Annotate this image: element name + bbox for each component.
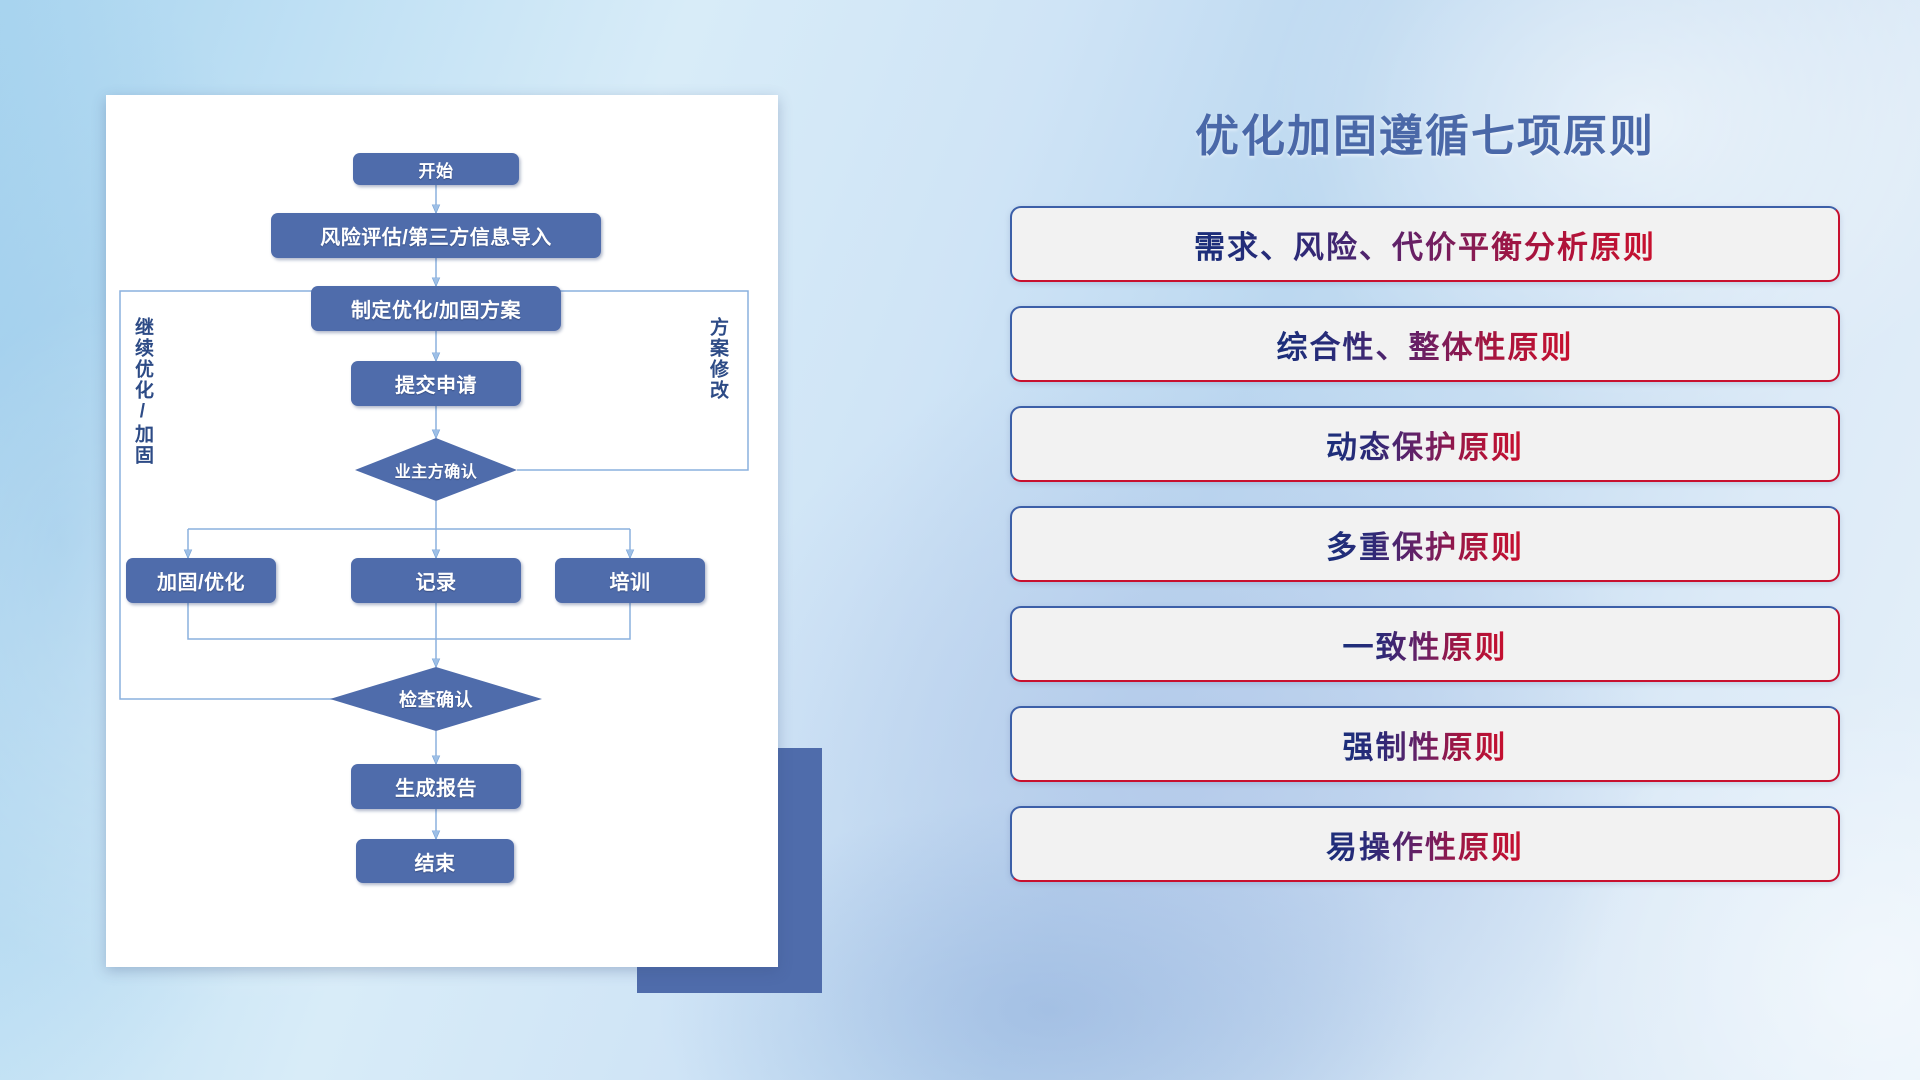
principle-item-2[interactable]: 综合性、整体性原则 bbox=[1010, 306, 1840, 382]
flow-node-label: 业主方确认 bbox=[395, 458, 478, 482]
flow-node-label: 加固/优化 bbox=[157, 566, 245, 595]
principle-label: 需求、风险、代价平衡分析原则 bbox=[1194, 222, 1656, 267]
flow-node-label: 提交申请 bbox=[395, 369, 477, 398]
flow-node-label: 检查确认 bbox=[399, 686, 473, 712]
principles-list: 需求、风险、代价平衡分析原则 综合性、整体性原则 动态保护原则 多重保护原则 一… bbox=[1010, 206, 1840, 882]
panel-title: 优化加固遵循七项原则 bbox=[1010, 100, 1840, 164]
flow-node-label: 制定优化/加固方案 bbox=[351, 294, 521, 323]
principle-item-4[interactable]: 多重保护原则 bbox=[1010, 506, 1840, 582]
flow-node-label: 培训 bbox=[610, 566, 651, 595]
flow-node-owner-confirm[interactable]: 业主方确认 bbox=[355, 438, 517, 501]
principle-item-7[interactable]: 易操作性原则 bbox=[1010, 806, 1840, 882]
flow-edge-label-plan-revision: 方案修改 bbox=[707, 317, 727, 401]
flow-node-submit-application[interactable]: 提交申请 bbox=[351, 361, 521, 406]
principle-label: 动态保护原则 bbox=[1326, 422, 1524, 467]
principle-label: 综合性、整体性原则 bbox=[1277, 322, 1574, 367]
principle-label: 一致性原则 bbox=[1343, 622, 1508, 667]
principle-item-6[interactable]: 强制性原则 bbox=[1010, 706, 1840, 782]
flow-node-reinforce-optimize[interactable]: 加固/优化 bbox=[126, 558, 276, 603]
flow-edge-label-continue-optimize: 继续优化/加固 bbox=[132, 317, 152, 466]
flow-node-plan[interactable]: 制定优化/加固方案 bbox=[311, 286, 561, 331]
flow-node-generate-report[interactable]: 生成报告 bbox=[351, 764, 521, 809]
flow-node-training[interactable]: 培训 bbox=[555, 558, 705, 603]
flow-node-start[interactable]: 开始 bbox=[353, 153, 519, 185]
flow-node-label: 开始 bbox=[419, 157, 454, 182]
flow-node-end[interactable]: 结束 bbox=[356, 839, 514, 883]
flow-node-label: 风险评估/第三方信息导入 bbox=[320, 221, 552, 250]
flowchart-card: 开始 风险评估/第三方信息导入 制定优化/加固方案 提交申请 业主方确认 加固/… bbox=[106, 95, 778, 967]
flow-node-check-confirm[interactable]: 检查确认 bbox=[330, 667, 542, 731]
principle-label: 强制性原则 bbox=[1343, 722, 1508, 767]
principle-label: 易操作性原则 bbox=[1326, 822, 1524, 867]
flow-node-label: 记录 bbox=[416, 566, 457, 595]
flow-node-risk-assessment[interactable]: 风险评估/第三方信息导入 bbox=[271, 213, 601, 258]
principle-label: 多重保护原则 bbox=[1326, 522, 1524, 567]
principle-item-5[interactable]: 一致性原则 bbox=[1010, 606, 1840, 682]
flow-node-record[interactable]: 记录 bbox=[351, 558, 521, 603]
principles-panel: 优化加固遵循七项原则 需求、风险、代价平衡分析原则 综合性、整体性原则 动态保护… bbox=[1010, 70, 1840, 1020]
flow-node-label: 结束 bbox=[415, 847, 456, 876]
flow-node-label: 生成报告 bbox=[395, 772, 477, 801]
principle-item-1[interactable]: 需求、风险、代价平衡分析原则 bbox=[1010, 206, 1840, 282]
principle-item-3[interactable]: 动态保护原则 bbox=[1010, 406, 1840, 482]
